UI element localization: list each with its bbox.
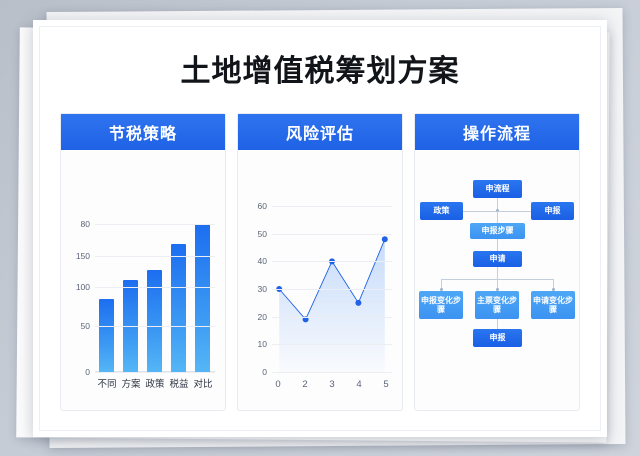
bar-chart-x-tick: 税益 bbox=[168, 376, 191, 390]
line-chart-x-tick: 0 bbox=[272, 379, 284, 390]
line-chart-y-tick: 40 bbox=[258, 256, 267, 266]
line-chart-x-tick: 4 bbox=[353, 379, 365, 390]
bar-税益[interactable] bbox=[171, 244, 186, 372]
bar-chart-x-labels: 不同方案政策税益对比 bbox=[95, 376, 215, 390]
flow-connector-n5-down bbox=[497, 267, 498, 279]
flowchart: 申流程 政策 申报 申报步骤 申请 申报变化步骤 主票变化步骤 申请变化步骤 申… bbox=[415, 150, 579, 410]
line-chart: 0102030405060 02345 bbox=[238, 150, 402, 410]
flow-node-declare-change-steps[interactable]: 申报变化步骤 bbox=[419, 291, 463, 319]
line-chart-y-tick: 0 bbox=[262, 367, 267, 377]
line-chart-x-tick: 5 bbox=[380, 379, 392, 390]
bar-chart-gridline bbox=[95, 372, 215, 373]
flow-node-application-change-steps[interactable]: 申请变化步骤 bbox=[531, 291, 575, 319]
flow-connector-to-n9 bbox=[497, 319, 498, 329]
line-chart-y-tick: 60 bbox=[258, 201, 267, 211]
screenshot-stage: 土地增值税筹划方案 节税策略 80150100500 不同方案政策税益对比 风险… bbox=[0, 0, 640, 456]
line-chart-x-tick: 2 bbox=[299, 379, 311, 390]
line-chart-y-tick: 10 bbox=[258, 339, 267, 349]
flow-node-main-ticket-change-steps[interactable]: 主票变化步骤 bbox=[475, 291, 519, 319]
line-chart-plot-area: 0102030405060 bbox=[272, 206, 392, 372]
panel-risk-assessment: 风险评估 0102030405060 02345 bbox=[237, 113, 403, 411]
flow-node-declare-steps[interactable]: 申报步骤 bbox=[470, 223, 525, 239]
line-chart-gridline bbox=[272, 289, 392, 290]
bar-对比[interactable] bbox=[195, 224, 210, 372]
panel-operation-flow: 操作流程 bbox=[414, 113, 580, 411]
line-chart-y-tick: 20 bbox=[258, 312, 267, 322]
flow-node-application[interactable]: 申请 bbox=[473, 251, 522, 267]
flow-node-apply-process[interactable]: 申流程 bbox=[473, 180, 522, 198]
bar-slot bbox=[120, 206, 143, 372]
flow-node-declare-right[interactable]: 申报 bbox=[531, 202, 574, 220]
bar-chart-series bbox=[95, 206, 215, 372]
panel-body-tax-saving-strategy: 80150100500 不同方案政策税益对比 bbox=[61, 150, 225, 410]
bar-chart-y-tick: 100 bbox=[76, 282, 90, 292]
bar-chart: 80150100500 不同方案政策税益对比 bbox=[61, 150, 225, 410]
flow-node-policy[interactable]: 政策 bbox=[420, 202, 463, 220]
bar-slot bbox=[168, 206, 191, 372]
bar-chart-y-tick: 150 bbox=[76, 251, 90, 261]
panel-header-risk-assessment: 风险评估 bbox=[238, 114, 402, 150]
panel-header-tax-saving-strategy: 节税策略 bbox=[61, 114, 225, 150]
bar-chart-x-tick: 政策 bbox=[144, 376, 167, 390]
panel-row: 节税策略 80150100500 不同方案政策税益对比 风险评估 bbox=[60, 113, 580, 411]
page-title: 土地增值税筹划方案 bbox=[33, 46, 607, 90]
panel-header-operation-flow: 操作流程 bbox=[415, 114, 579, 150]
bar-chart-x-tick: 不同 bbox=[96, 376, 119, 390]
panel-body-risk-assessment: 0102030405060 02345 bbox=[238, 150, 402, 410]
bar-chart-x-tick: 方案 bbox=[120, 376, 143, 390]
bar-chart-y-tick: 80 bbox=[81, 219, 90, 229]
line-chart-gridline bbox=[272, 344, 392, 345]
bar-slot bbox=[144, 206, 167, 372]
line-chart-y-tick: 50 bbox=[258, 229, 267, 239]
bar-chart-plot-area: 80150100500 bbox=[95, 206, 215, 372]
bar-slot bbox=[192, 206, 215, 372]
bar-chart-y-tick: 50 bbox=[81, 321, 90, 331]
flow-connector-to-n5 bbox=[497, 239, 498, 251]
line-chart-x-labels: 02345 bbox=[272, 379, 392, 390]
line-chart-gridline bbox=[272, 317, 392, 318]
line-chart-x-tick: 3 bbox=[326, 379, 338, 390]
panel-body-operation-flow: 申流程 政策 申报 申报步骤 申请 申报变化步骤 主票变化步骤 申请变化步骤 申… bbox=[415, 150, 579, 410]
panel-tax-saving-strategy: 节税策略 80150100500 不同方案政策税益对比 bbox=[60, 113, 226, 411]
bar-chart-gridline bbox=[95, 326, 215, 327]
line-point-4[interactable] bbox=[355, 300, 361, 306]
bar-chart-gridline bbox=[95, 287, 215, 288]
bar-chart-x-tick: 对比 bbox=[192, 376, 215, 390]
line-chart-gridline bbox=[272, 234, 392, 235]
bar-slot bbox=[96, 206, 119, 372]
line-chart-y-tick: 30 bbox=[258, 284, 267, 294]
line-chart-gridline bbox=[272, 372, 392, 373]
line-chart-gridline bbox=[272, 261, 392, 262]
bar-不同[interactable] bbox=[99, 299, 114, 372]
bar-chart-y-tick: 0 bbox=[85, 367, 90, 377]
bar-chart-gridline bbox=[95, 224, 215, 225]
line-point-5[interactable] bbox=[382, 236, 388, 242]
line-chart-gridline bbox=[272, 206, 392, 207]
flow-connector-to-n4 bbox=[497, 211, 498, 223]
bar-chart-gridline bbox=[95, 256, 215, 257]
flow-node-declare-bottom[interactable]: 申报 bbox=[473, 329, 522, 347]
bar-政策[interactable] bbox=[147, 270, 162, 372]
